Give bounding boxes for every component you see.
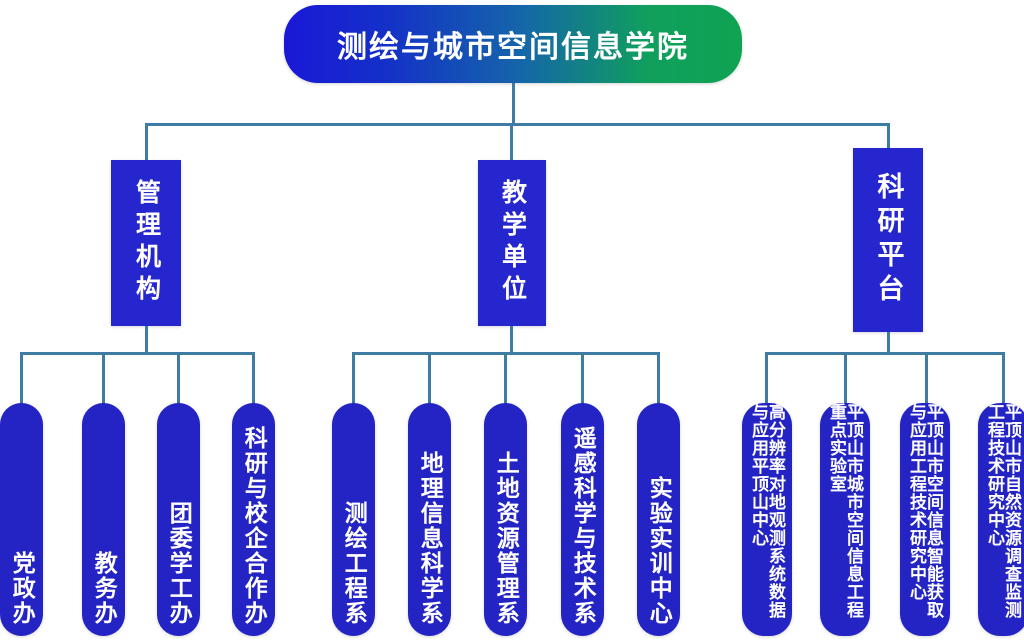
leaf-node-experimental-training-center[interactable]: 实验实训中心 bbox=[637, 403, 680, 636]
connector-teaching-child-0 bbox=[352, 352, 355, 404]
connector-management-stem bbox=[145, 326, 148, 353]
connector-management-child-0 bbox=[20, 352, 23, 404]
connector-teaching-child-1 bbox=[428, 352, 431, 404]
leaf-node-gis-dept[interactable]: 地理信息科学系 bbox=[408, 403, 451, 636]
leaf-node-land-resource-management-dept[interactable]: 土地资源管理系 bbox=[484, 403, 527, 636]
leaf-node-high-resolution-earth-observation-center-label: 高分辨率对地观测系统数据与应用平顶山中心 bbox=[750, 403, 784, 636]
leaf-node-urban-spatial-info-key-lab-label: 平顶山市城市空间信息工程重点实验室 bbox=[828, 403, 862, 636]
connector-research-child-2 bbox=[925, 352, 928, 404]
leaf-node-natural-resource-survey-center-label: 平顶山市自然资源调查监测工程技术研究中心 bbox=[986, 403, 1020, 636]
branch-node-research-label: 科研平台 bbox=[875, 172, 902, 308]
leaf-node-experimental-training-center-label: 实验实训中心 bbox=[647, 476, 670, 636]
connector-to-branch-1 bbox=[510, 123, 513, 161]
leaf-node-academic-affairs-office-label: 教务办 bbox=[92, 551, 115, 636]
root-node-college[interactable]: 测绘与城市空间信息学院 bbox=[284, 5, 742, 83]
connector-research-child-0 bbox=[765, 352, 768, 404]
leaf-node-party-admin-office[interactable]: 党政办 bbox=[0, 403, 43, 636]
connector-management-bus bbox=[20, 352, 254, 355]
connector-research-child-3 bbox=[1002, 352, 1005, 404]
branch-node-teaching-label: 教学单位 bbox=[500, 179, 525, 307]
leaf-node-remote-sensing-dept-label: 遥感科学与技术系 bbox=[571, 426, 594, 636]
connector-research-bus bbox=[765, 352, 1005, 355]
connector-level2-bus bbox=[145, 123, 890, 126]
branch-node-teaching[interactable]: 教学单位 bbox=[478, 160, 546, 326]
branch-node-research[interactable]: 科研平台 bbox=[853, 148, 923, 332]
branch-node-management[interactable]: 管理机构 bbox=[111, 160, 181, 326]
leaf-node-gis-dept-label: 地理信息科学系 bbox=[418, 451, 441, 636]
leaf-node-high-resolution-earth-observation-center[interactable]: 高分辨率对地观测系统数据与应用平顶山中心 bbox=[742, 403, 792, 636]
leaf-node-land-resource-management-dept-label: 土地资源管理系 bbox=[494, 451, 517, 636]
leaf-node-party-admin-office-label: 党政办 bbox=[10, 551, 33, 636]
leaf-node-research-enterprise-cooperation-office[interactable]: 科研与校企合作办 bbox=[232, 403, 275, 636]
leaf-node-natural-resource-survey-center[interactable]: 平顶山市自然资源调查监测工程技术研究中心 bbox=[978, 403, 1024, 636]
connector-research-child-1 bbox=[844, 352, 847, 404]
leaf-node-surveying-engineering-dept[interactable]: 测绘工程系 bbox=[332, 403, 375, 636]
leaf-node-urban-spatial-info-key-lab[interactable]: 平顶山市城市空间信息工程重点实验室 bbox=[820, 403, 870, 636]
connector-teaching-stem bbox=[510, 326, 513, 353]
leaf-node-surveying-engineering-dept-label: 测绘工程系 bbox=[342, 501, 365, 636]
org-chart: 测绘与城市空间信息学院 管理机构 教学单位 科研平台 党政办 教务办 团委学工办… bbox=[0, 0, 1024, 642]
connector-management-child-2 bbox=[177, 352, 180, 404]
leaf-node-youth-league-student-office[interactable]: 团委学工办 bbox=[157, 403, 200, 636]
connector-management-child-3 bbox=[252, 352, 255, 404]
leaf-node-spatial-info-intelligent-acquisition-center[interactable]: 平顶山市空间信息智能获取与应用工程技术研究中心 bbox=[900, 403, 950, 636]
connector-teaching-child-2 bbox=[504, 352, 507, 404]
connector-teaching-child-3 bbox=[581, 352, 584, 404]
leaf-node-academic-affairs-office[interactable]: 教务办 bbox=[82, 403, 125, 636]
connector-to-branch-0 bbox=[145, 123, 148, 161]
leaf-node-spatial-info-intelligent-acquisition-center-label: 平顶山市空间信息智能获取与应用工程技术研究中心 bbox=[908, 403, 942, 636]
connector-research-stem bbox=[887, 332, 890, 353]
leaf-node-remote-sensing-dept[interactable]: 遥感科学与技术系 bbox=[561, 403, 604, 636]
connector-teaching-child-4 bbox=[657, 352, 660, 404]
leaf-node-research-enterprise-cooperation-office-label: 科研与校企合作办 bbox=[242, 426, 265, 636]
connector-root-stem bbox=[512, 83, 515, 125]
root-node-label: 测绘与城市空间信息学院 bbox=[337, 22, 689, 66]
leaf-node-youth-league-student-office-label: 团委学工办 bbox=[167, 501, 190, 636]
connector-management-child-1 bbox=[102, 352, 105, 404]
branch-node-management-label: 管理机构 bbox=[134, 179, 159, 307]
